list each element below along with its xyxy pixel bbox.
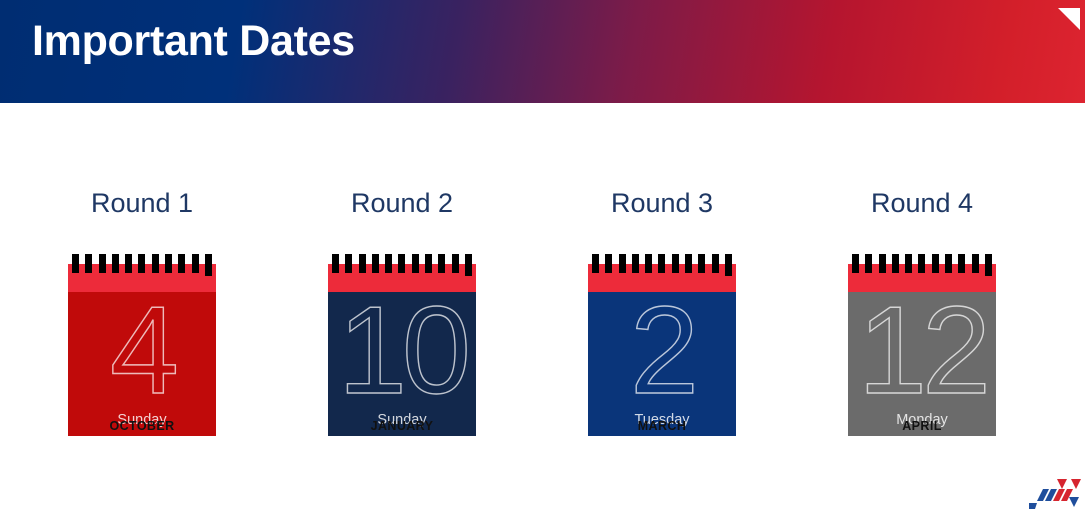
binding-ring	[865, 254, 872, 273]
binding-ring	[152, 254, 159, 273]
binding-ring	[99, 254, 106, 273]
binding-ring	[619, 254, 626, 273]
calendar-body: 12 Monday	[848, 292, 996, 436]
binding-ring	[372, 254, 379, 273]
binding-ring	[425, 254, 432, 273]
round-card-1: Round 1 OCTOBER 4 Sunday	[68, 186, 216, 436]
binding-ring	[385, 254, 392, 273]
binding-ring	[465, 254, 472, 276]
binding-ring	[178, 254, 185, 273]
binding-ring	[165, 254, 172, 273]
calendar-day-number: 4	[68, 292, 216, 426]
binding-ring	[72, 254, 79, 273]
round-card-3: Round 3 MARCH 2 Tuesday	[588, 186, 736, 436]
binding-ring	[205, 254, 212, 276]
calendar-icon-2: JANUARY 10 Sunday	[328, 254, 476, 436]
binding-ring	[685, 254, 692, 273]
round-label-4: Round 4	[848, 186, 996, 220]
binding-ring	[852, 254, 859, 273]
binding-ring	[412, 254, 419, 273]
corner-fold-triangle-icon	[1058, 8, 1080, 30]
binding-ring	[112, 254, 119, 273]
calendar-month-label: MARCH	[588, 419, 736, 433]
binding-ring	[345, 254, 352, 273]
binding-ring	[972, 254, 979, 273]
binding-ring	[138, 254, 145, 273]
binding-ring	[125, 254, 132, 273]
binding-ring	[712, 254, 719, 273]
round-label-1: Round 1	[68, 186, 216, 220]
binding-ring	[605, 254, 612, 273]
calendar-day-number: 10	[328, 292, 476, 426]
calendar-day-number: 2	[588, 292, 736, 426]
calendar-binding-rings	[332, 254, 472, 273]
binding-ring	[932, 254, 939, 273]
binding-ring	[918, 254, 925, 273]
binding-ring	[192, 254, 199, 273]
round-label-2: Round 2	[328, 186, 476, 220]
calendar-body: 10 Sunday	[328, 292, 476, 436]
round-card-2: Round 2 JANUARY 10 Sunday	[328, 186, 476, 436]
calendar-body: 2 Tuesday	[588, 292, 736, 436]
binding-ring	[672, 254, 679, 273]
binding-ring	[398, 254, 405, 273]
calendar-month-label: JANUARY	[328, 419, 476, 433]
binding-ring	[85, 254, 92, 273]
binding-ring	[958, 254, 965, 273]
binding-ring	[905, 254, 912, 273]
title-banner: Important Dates	[0, 0, 1085, 103]
binding-ring	[985, 254, 992, 276]
binding-ring	[452, 254, 459, 273]
calendar-icon-4: APRIL 12 Monday	[848, 254, 996, 436]
binding-ring	[879, 254, 886, 273]
binding-ring	[332, 254, 339, 273]
calendar-icon-3: MARCH 2 Tuesday	[588, 254, 736, 436]
calendar-icon-1: OCTOBER 4 Sunday	[68, 254, 216, 436]
rounds-row: Round 1 OCTOBER 4 Sunday	[0, 186, 1085, 446]
calendar-month-label: APRIL	[848, 419, 996, 433]
brand-slashes-logo-icon	[1027, 477, 1085, 511]
binding-ring	[658, 254, 665, 273]
binding-ring	[725, 254, 732, 276]
calendar-day-number: 12	[848, 292, 996, 426]
calendar-body: 4 Sunday	[68, 292, 216, 436]
calendar-binding-rings	[72, 254, 212, 273]
calendar-binding-rings	[852, 254, 992, 273]
binding-ring	[645, 254, 652, 273]
binding-ring	[698, 254, 705, 273]
page-title: Important Dates	[32, 17, 355, 66]
round-card-4: Round 4 APRIL 12 Monday	[848, 186, 996, 436]
round-label-3: Round 3	[588, 186, 736, 220]
calendar-month-label: OCTOBER	[68, 419, 216, 433]
binding-ring	[359, 254, 366, 273]
calendar-binding-rings	[592, 254, 732, 273]
binding-ring	[592, 254, 599, 273]
binding-ring	[892, 254, 899, 273]
binding-ring	[438, 254, 445, 273]
binding-ring	[945, 254, 952, 273]
binding-ring	[632, 254, 639, 273]
